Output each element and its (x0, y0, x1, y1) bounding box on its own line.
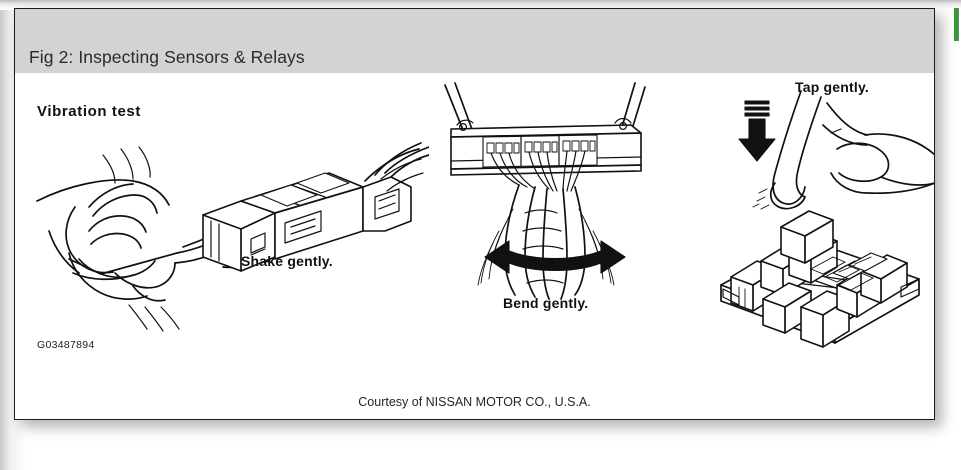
panel-tap-gently: Tap gently. (705, 73, 935, 363)
caption-tap-gently: Tap gently. (795, 79, 869, 95)
bent-wire-bundle-drawing (478, 185, 614, 299)
figure-title: Fig 2: Inspecting Sensors & Relays (29, 47, 305, 68)
caption-bend-gently: Bend gently. (503, 295, 588, 311)
figure-courtesy-text: Courtesy of NISSAN MOTOR CO., U.S.A. (15, 395, 934, 409)
figure-panel: Fig 2: Inspecting Sensors & Relays Vibra… (14, 8, 935, 420)
relay-box-drawing (721, 211, 919, 347)
panel-bend-gently: Bend gently. (435, 81, 685, 361)
figure-reference-code: G03487894 (37, 339, 95, 351)
figure-body: Vibration test (15, 73, 934, 419)
hand-gripping-wires-drawing (37, 180, 177, 301)
green-edge-strip (954, 8, 959, 41)
caption-shake-gently: Shake gently. (241, 253, 333, 269)
illustration-bend-harness (435, 81, 685, 361)
illustration-shake-connector (29, 81, 429, 361)
tap-down-arrow-icon (739, 101, 775, 161)
hand-tapping-drawing (753, 91, 935, 209)
connector-block-drawing (451, 119, 641, 176)
motion-lines-hand (103, 147, 179, 331)
panel-shake-gently: Shake gently. (29, 81, 429, 361)
illustration-tap-relay-box (705, 73, 935, 363)
figure-header-bar: Fig 2: Inspecting Sensors & Relays (15, 9, 934, 73)
bend-double-arrow-icon (485, 241, 625, 273)
